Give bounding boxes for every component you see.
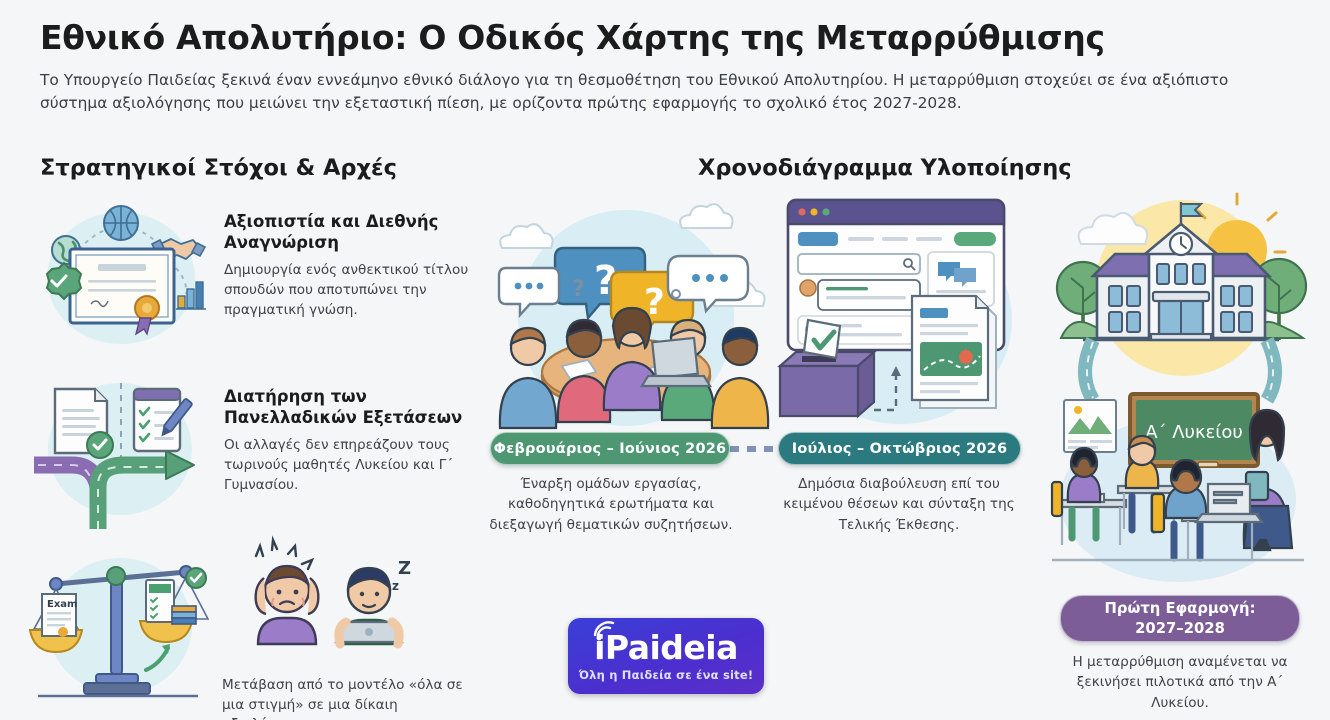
certificate-globe-handshake-icon xyxy=(28,190,218,355)
section-heading-goals: Στρατηγικοί Στόχοι & Αρχές xyxy=(40,155,397,181)
svg-text:Exam: Exam xyxy=(47,599,77,610)
logo-wordmark: iPaideia xyxy=(594,631,738,664)
feature-item: Αξιοπιστία και Διεθνής Αναγνώριση Δημιου… xyxy=(28,190,473,355)
school-building-illustration xyxy=(1053,190,1308,405)
forking-road-checklist-icon xyxy=(28,365,218,530)
feature-title: Διατήρηση των Πανελλαδικών Εξετάσεων xyxy=(224,387,473,428)
feature-text: Αξιοπιστία και Διεθνής Αναγνώριση Δημιου… xyxy=(218,190,473,320)
chalkboard-text: Α΄ Λυκείου xyxy=(1145,422,1243,443)
stress-to-fair-illustration: Z z Μετάβαση από το μοντέλο «όλα σε μια … xyxy=(218,540,473,720)
timeline-phase-2-caption: Δημόσια διαβούλευση επί του κειμένου θέσ… xyxy=(770,474,1028,535)
wifi-icon xyxy=(592,619,618,641)
section-heading-timeline: Χρονοδιάγραμμα Υλοποίησης xyxy=(698,155,1072,181)
page-subtitle: Το Υπουργείο Παιδείας ξεκινά έναν εννεάμ… xyxy=(40,69,1250,116)
header: Εθνικό Απολυτήριο: Ο Οδικός Χάρτης της Μ… xyxy=(40,20,1290,116)
phase-3-label-line2: 2027–2028 xyxy=(1135,619,1225,638)
timeline-phase-1-badge[interactable]: Φεβρουάριος – Ιούνιος 2026 xyxy=(490,432,730,465)
feature-item: Exam xyxy=(28,540,473,720)
feature-description: Μετάβαση από το μοντέλο «όλα σε μια στιγ… xyxy=(218,676,473,720)
feature-title: Αξιοπιστία και Διεθνής Αναγνώριση xyxy=(224,212,473,253)
strategic-goals-column: Αξιοπιστία και Διεθνής Αναγνώριση Δημιου… xyxy=(28,190,473,720)
round-table-discussion-illustration: ? ? ? xyxy=(486,190,766,430)
svg-text:Z: Z xyxy=(398,558,411,579)
svg-text:z: z xyxy=(392,579,399,593)
svg-text:?: ? xyxy=(572,277,585,302)
timeline-phase-3-caption: Η μεταρρύθμιση αναμένεται να ξεκινήσει π… xyxy=(1050,652,1310,713)
page-title: Εθνικό Απολυτήριο: Ο Οδικός Χάρτης της Μ… xyxy=(40,20,1290,57)
timeline-connector xyxy=(730,446,780,452)
timeline-phase-1-caption: Έναρξη ομάδων εργασίας, καθοδηγητικά ερω… xyxy=(482,474,740,535)
feature-item: Διατήρηση των Πανελλαδικών Εξετάσεων Οι … xyxy=(28,365,473,530)
logo-tagline: Όλη η Παιδεία σε ένα site! xyxy=(579,668,754,682)
feature-description: Οι αλλαγές δεν επηρεάζουν τους τωρινούς … xyxy=(224,436,473,495)
feature-description: Δημιουργία ενός ανθεκτικού τίτλου σπουδώ… xyxy=(224,261,473,320)
phase-3-label-line1: Πρώτη Εφαρμογή: xyxy=(1105,599,1256,618)
timeline-phase-2-badge[interactable]: Ιούλιος – Οκτώβριος 2026 xyxy=(778,432,1021,465)
timeline-phase-3-badge[interactable]: Πρώτη Εφαρμογή: 2027–2028 xyxy=(1060,595,1300,642)
infographic-page: Εθνικό Απολυτήριο: Ο Οδικός Χάρτης της Μ… xyxy=(0,0,1330,720)
ipaideia-logo[interactable]: iPaideia Όλη η Παιδεία σε ένα site! xyxy=(568,618,764,694)
online-consultation-illustration xyxy=(770,190,1050,430)
scales-fairness-icon: Exam xyxy=(28,540,218,670)
feature-text: Διατήρηση των Πανελλαδικών Εξετάσεων Οι … xyxy=(218,365,473,495)
classroom-illustration: Α΄ Λυκείου xyxy=(1048,390,1308,585)
